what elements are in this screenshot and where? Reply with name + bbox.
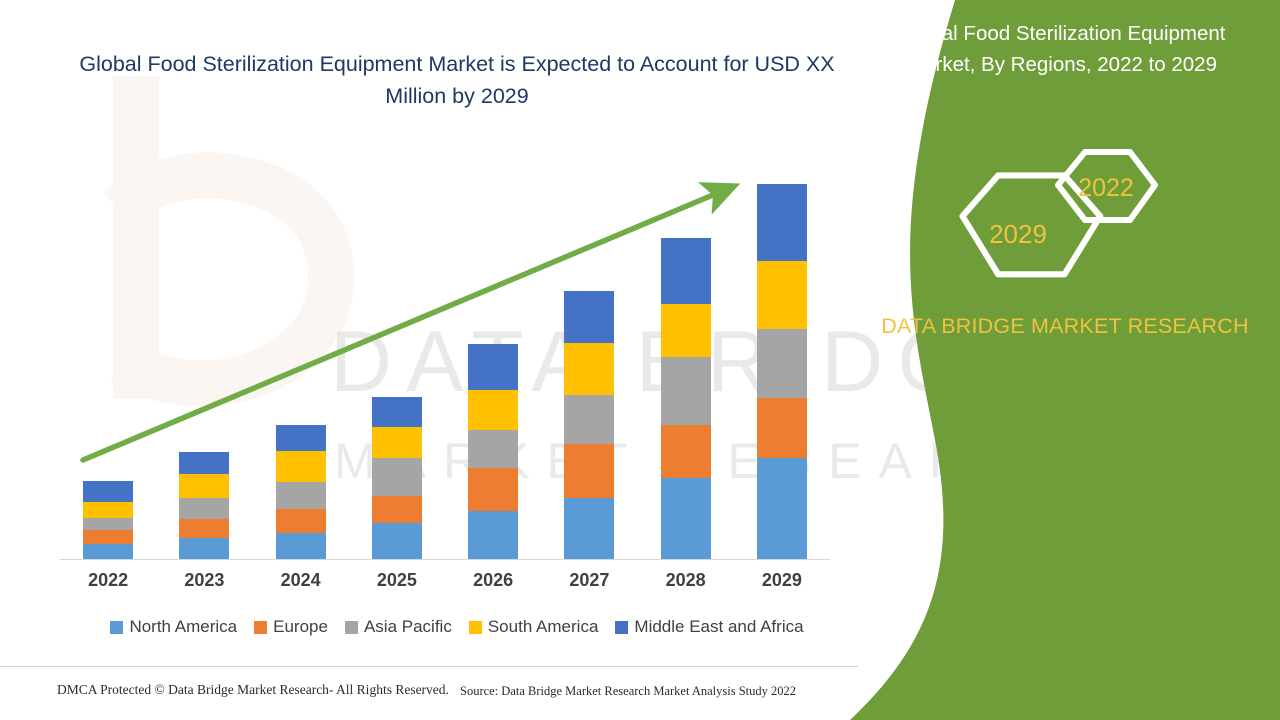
legend-swatch-icon — [615, 621, 628, 634]
bar-segment[interactable] — [372, 427, 422, 458]
x-axis-label-2029: 2029 — [734, 570, 830, 591]
bar-segment[interactable] — [757, 329, 807, 398]
panel-title: Global Food Sterilization Equipment Mark… — [862, 18, 1262, 80]
bar-segment[interactable] — [468, 344, 518, 389]
legend-item[interactable]: Europe — [254, 617, 328, 637]
legend-swatch-icon — [469, 621, 482, 634]
x-axis-labels: 20222023202420252026202720282029 — [60, 570, 830, 598]
chart-legend: North AmericaEuropeAsia PacificSouth Ame… — [62, 617, 852, 637]
legend-item[interactable]: Asia Pacific — [345, 617, 452, 637]
legend-label: South America — [488, 617, 599, 637]
bar-segment[interactable] — [757, 261, 807, 330]
bar-column-2025[interactable] — [372, 397, 422, 559]
bar-segment[interactable] — [276, 451, 326, 482]
x-axis-label-2022: 2022 — [60, 570, 156, 591]
bar-segment[interactable] — [276, 425, 326, 451]
stacked-bar-group — [60, 170, 830, 560]
x-axis-label-2024: 2024 — [253, 570, 349, 591]
hexagon-badges-icon: 2029 2022 — [940, 140, 1180, 310]
bar-segment[interactable] — [564, 498, 614, 559]
bar-segment[interactable] — [661, 478, 711, 559]
legend-swatch-icon — [254, 621, 267, 634]
hex-2029-label: 2029 — [989, 219, 1047, 249]
bar-segment[interactable] — [372, 397, 422, 427]
bar-column-2027[interactable] — [564, 291, 614, 559]
bar-segment[interactable] — [757, 184, 807, 261]
legend-label: Europe — [273, 617, 328, 637]
footer-copyright: DMCA Protected © Data Bridge Market Rese… — [57, 682, 449, 698]
bar-segment[interactable] — [468, 468, 518, 510]
chart-title: Global Food Sterilization Equipment Mark… — [62, 48, 852, 112]
green-panel-shape — [840, 0, 1280, 720]
bar-segment[interactable] — [83, 518, 133, 530]
bar-segment[interactable] — [179, 474, 229, 497]
x-axis-label-2028: 2028 — [638, 570, 734, 591]
bar-segment[interactable] — [276, 509, 326, 533]
bar-segment[interactable] — [564, 395, 614, 444]
bar-segment[interactable] — [179, 538, 229, 559]
legend-label: Middle East and Africa — [634, 617, 803, 637]
legend-item[interactable]: Middle East and Africa — [615, 617, 803, 637]
bar-column-2026[interactable] — [468, 344, 518, 559]
legend-label: North America — [129, 617, 237, 637]
bar-segment[interactable] — [468, 430, 518, 468]
bar-segment[interactable] — [372, 458, 422, 495]
bar-segment[interactable] — [372, 496, 422, 523]
infographic-root: DATA BRIDGE MARKET RESEARCH Global Food … — [0, 0, 1280, 720]
bar-segment[interactable] — [564, 343, 614, 394]
bar-segment[interactable] — [564, 444, 614, 497]
x-axis-label-2026: 2026 — [445, 570, 541, 591]
bar-column-2022[interactable] — [83, 481, 133, 559]
bar-segment[interactable] — [276, 482, 326, 508]
right-green-panel: Global Food Sterilization Equipment Mark… — [840, 0, 1280, 720]
brand-name: DATA BRIDGE MARKET RESEARCH — [870, 310, 1260, 343]
bar-segment[interactable] — [757, 458, 807, 559]
bar-segment[interactable] — [661, 425, 711, 478]
bar-column-2024[interactable] — [276, 425, 326, 559]
bar-segment[interactable] — [83, 481, 133, 501]
legend-item[interactable]: South America — [469, 617, 599, 637]
bar-column-2029[interactable] — [757, 184, 807, 559]
bar-segment[interactable] — [372, 523, 422, 559]
legend-swatch-icon — [345, 621, 358, 634]
bar-segment[interactable] — [757, 398, 807, 458]
bar-segment[interactable] — [661, 238, 711, 304]
legend-label: Asia Pacific — [364, 617, 452, 637]
bar-column-2023[interactable] — [179, 452, 229, 559]
x-axis-label-2027: 2027 — [541, 570, 637, 591]
bar-segment[interactable] — [179, 498, 229, 519]
legend-item[interactable]: North America — [110, 617, 237, 637]
bar-segment[interactable] — [83, 544, 133, 559]
chart-plot-area — [60, 170, 830, 560]
x-axis-label-2025: 2025 — [349, 570, 445, 591]
bar-segment[interactable] — [179, 519, 229, 538]
bar-segment[interactable] — [661, 304, 711, 357]
bar-segment[interactable] — [83, 502, 133, 518]
hex-2022-label: 2022 — [1078, 174, 1134, 202]
bar-segment[interactable] — [468, 511, 518, 559]
bar-segment[interactable] — [468, 390, 518, 430]
hexagon-badges: 2029 2022 — [940, 140, 1180, 310]
bar-column-2028[interactable] — [661, 238, 711, 559]
bar-segment[interactable] — [276, 533, 326, 559]
x-axis-label-2023: 2023 — [156, 570, 252, 591]
legend-swatch-icon — [110, 621, 123, 634]
footer-divider — [0, 666, 858, 667]
footer-source: Source: Data Bridge Market Research Mark… — [460, 684, 796, 699]
bar-segment[interactable] — [83, 530, 133, 544]
bar-segment[interactable] — [661, 357, 711, 425]
bar-segment[interactable] — [564, 291, 614, 343]
bar-segment[interactable] — [179, 452, 229, 474]
